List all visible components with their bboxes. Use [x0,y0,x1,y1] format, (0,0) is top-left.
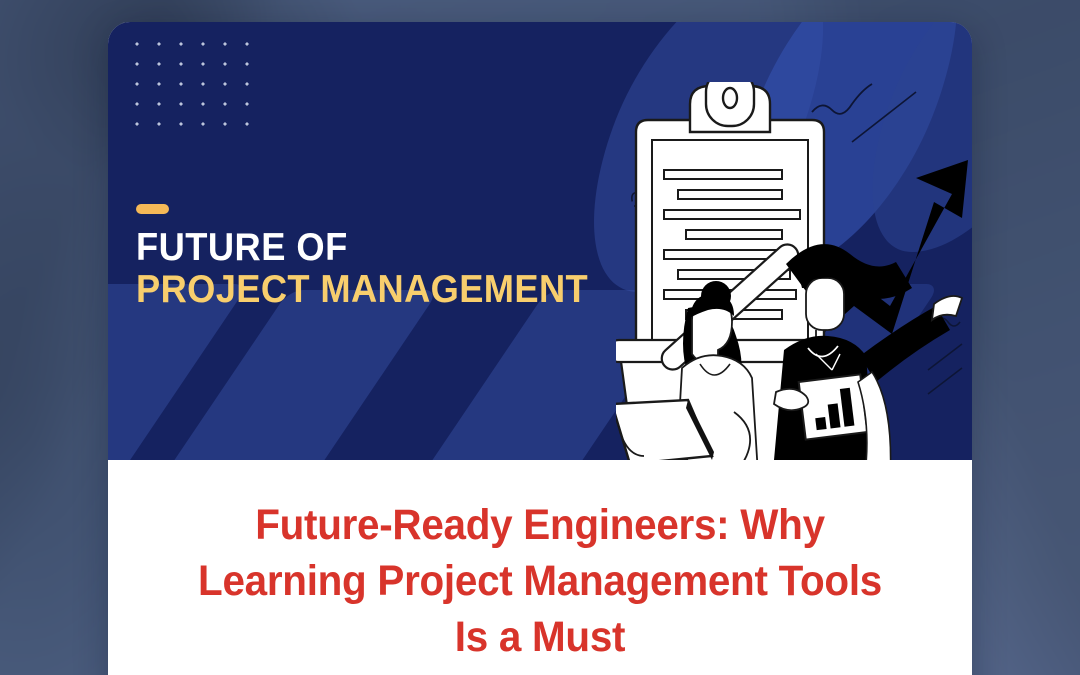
article-card[interactable]: FUTURE OF PROJECT MANAGEMENT Future-Read… [108,22,972,675]
article-title: Future-Ready Engineers: Why Learning Pro… [134,460,946,666]
article-body: Future-Ready Engineers: Why Learning Pro… [108,460,972,675]
squiggle-3 [936,318,960,326]
stroke-5 [928,368,962,394]
banner-title: PROJECT MANAGEMENT [136,270,588,310]
banner-diagonal-band-3 [409,290,697,460]
accent-dash [136,204,169,214]
banner-text-block: FUTURE OF PROJECT MANAGEMENT [136,204,622,310]
stroke-4 [928,344,962,370]
dot-grid-pattern [122,30,260,140]
hero-banner: FUTURE OF PROJECT MANAGEMENT [108,22,972,460]
banner-kicker: FUTURE OF [136,229,588,266]
